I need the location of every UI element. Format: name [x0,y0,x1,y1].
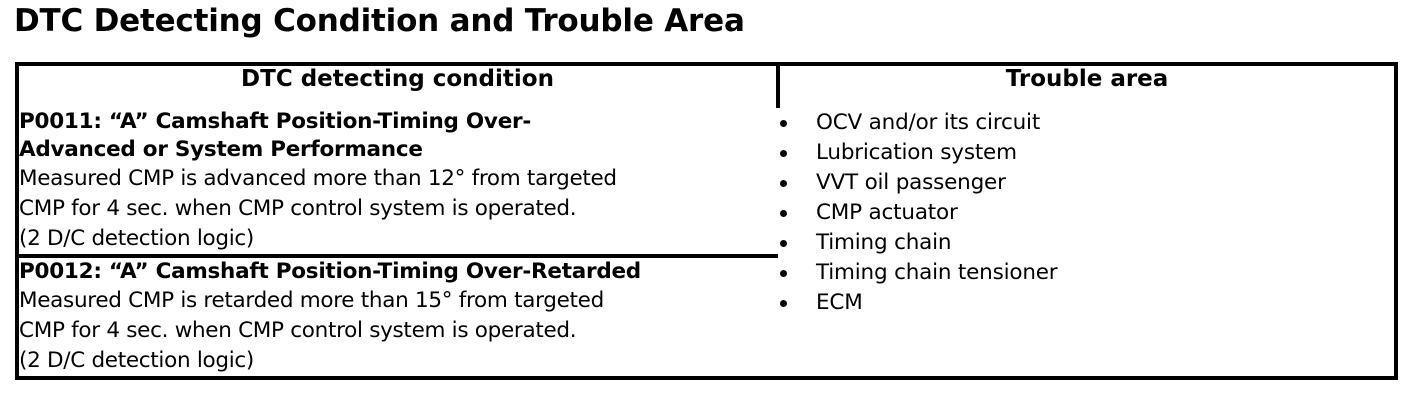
bullet-icon [780,300,787,307]
list-item: OCV and/or its circuit [778,108,1394,138]
dtc-description-p0011: Measured CMP is advanced more than 12° f… [19,164,778,254]
list-item: CMP actuator [778,198,1394,228]
bullet-icon [780,240,787,247]
table-body: P0011: “A” Camshaft Position-Timing Over… [17,108,1396,378]
list-item-label: Timing chain [816,230,951,255]
dtc-description-line: (2 D/C detection logic) [19,346,778,376]
list-item: VVT oil passenger [778,168,1394,198]
page-title: DTC Detecting Condition and Trouble Area [14,1,745,41]
dtc-code-title-line: P0012: “A” Camshaft Position-Timing Over… [19,258,778,286]
cell-condition-p0012: P0012: “A” Camshaft Position-Timing Over… [17,256,778,378]
dtc-description-line: Measured CMP is advanced more than 12° f… [19,164,778,194]
column-header-trouble-area: Trouble area [778,64,1396,108]
list-item-label: Lubrication system [816,140,1017,165]
column-header-dtc-detecting-condition: DTC detecting condition [17,64,778,108]
table-header: DTC detecting condition Trouble area [17,64,1396,108]
list-item: Timing chain tensioner [778,258,1394,288]
list-item: ECM [778,288,1394,318]
table-row: P0011: “A” Camshaft Position-Timing Over… [17,108,1396,256]
list-item: Timing chain [778,228,1394,258]
dtc-description-line: CMP for 4 sec. when CMP control system i… [19,194,778,224]
list-item-label: CMP actuator [816,200,958,225]
dtc-code-title-line: P0011: “A” Camshaft Position-Timing Over… [19,108,778,136]
page-root: DTC Detecting Condition and Trouble Area… [0,0,1408,416]
list-item-label: ECM [816,290,863,315]
trouble-area-list: OCV and/or its circuit Lubrication syste… [778,108,1394,318]
list-item-label: VVT oil passenger [816,170,1006,195]
bullet-icon [780,150,787,157]
list-item: Lubrication system [778,138,1394,168]
dtc-description-p0012: Measured CMP is retarded more than 15° f… [19,286,778,376]
list-item-label: Timing chain tensioner [816,260,1057,285]
list-item-label: OCV and/or its circuit [816,110,1040,135]
table-header-row: DTC detecting condition Trouble area [17,64,1396,108]
bullet-icon [780,270,787,277]
dtc-code-title-p0011: P0011: “A” Camshaft Position-Timing Over… [19,108,778,164]
bullet-icon [780,210,787,217]
dtc-table: DTC detecting condition Trouble area P00… [15,62,1398,380]
dtc-code-title-line: Advanced or System Performance [19,136,778,164]
dtc-code-title-p0012: P0012: “A” Camshaft Position-Timing Over… [19,258,778,286]
dtc-description-line: (2 D/C detection logic) [19,224,778,254]
bullet-icon [780,120,787,127]
dtc-description-line: Measured CMP is retarded more than 15° f… [19,286,778,316]
cell-condition-p0011: P0011: “A” Camshaft Position-Timing Over… [17,108,778,256]
dtc-description-line: CMP for 4 sec. when CMP control system i… [19,316,778,346]
bullet-icon [780,180,787,187]
cell-trouble-area: OCV and/or its circuit Lubrication syste… [778,108,1396,378]
